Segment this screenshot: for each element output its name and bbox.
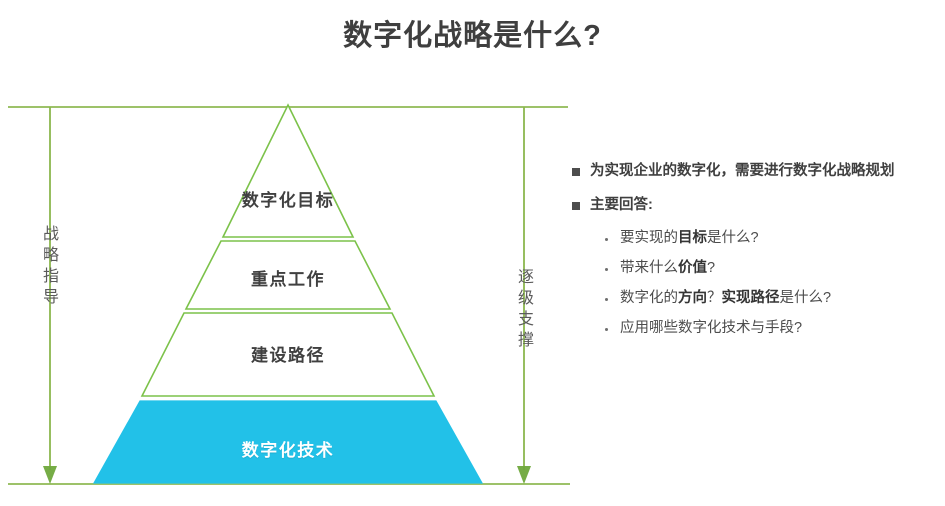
sub-bullet-item: 数字化的方向？实现路径是什么? [605,289,940,308]
sub-bullet-text-2: 数字化的方向？实现路径是什么? [620,289,831,308]
pyramid-tier-1-label: 数字化目标 [188,186,388,211]
dot-bullet-icon [605,268,608,271]
pyramid-tier-1-shape [223,105,353,237]
sub-bullet-text-1: 带来什么价值? [620,259,715,278]
bullet-item: 为实现企业的数字化，需要进行数字化战略规划 [572,162,940,182]
bullet-text: 为实现企业的数字化，需要进行数字化战略规划 [590,162,895,182]
left-axis-caption: 战略指导 [40,225,56,309]
sub-bullet-list: 要实现的目标是什么? 带来什么价值? 数字化的方向？实现路径是什么? 应用哪些数… [605,229,940,337]
bullet-item: 主要回答: [572,196,940,216]
dot-bullet-icon [605,298,608,301]
pyramid-graphic [0,0,600,506]
pyramid-tier-2-label: 重点工作 [188,265,388,290]
bullet-panel: 为实现企业的数字化，需要进行数字化战略规划 主要回答: 要实现的目标是什么? 带… [572,162,940,349]
square-bullet-icon [572,168,580,176]
bullet-text: 主要回答: [590,196,653,216]
pyramid-tier-4-label: 数字化技术 [188,436,388,461]
sub-bullet-item: 应用哪些数字化技术与手段? [605,319,940,338]
sub-bullet-item: 要实现的目标是什么? [605,229,940,248]
pyramid-tier-3-label: 建设路径 [188,341,388,366]
sub-bullet-text-3: 应用哪些数字化技术与手段? [620,319,802,338]
right-arrow-head [517,466,531,484]
pyramid-diagram: 数字化目标 重点工作 建设路径 数字化技术 战略指导 逐级支撑 [0,0,600,506]
right-axis-caption: 逐级支撑 [515,268,531,352]
sub-bullet-text-0: 要实现的目标是什么? [620,229,759,248]
left-arrow-head [43,466,57,484]
dot-bullet-icon [605,238,608,241]
sub-bullet-item: 带来什么价值? [605,259,940,278]
dot-bullet-icon [605,328,608,331]
square-bullet-icon [572,202,580,210]
